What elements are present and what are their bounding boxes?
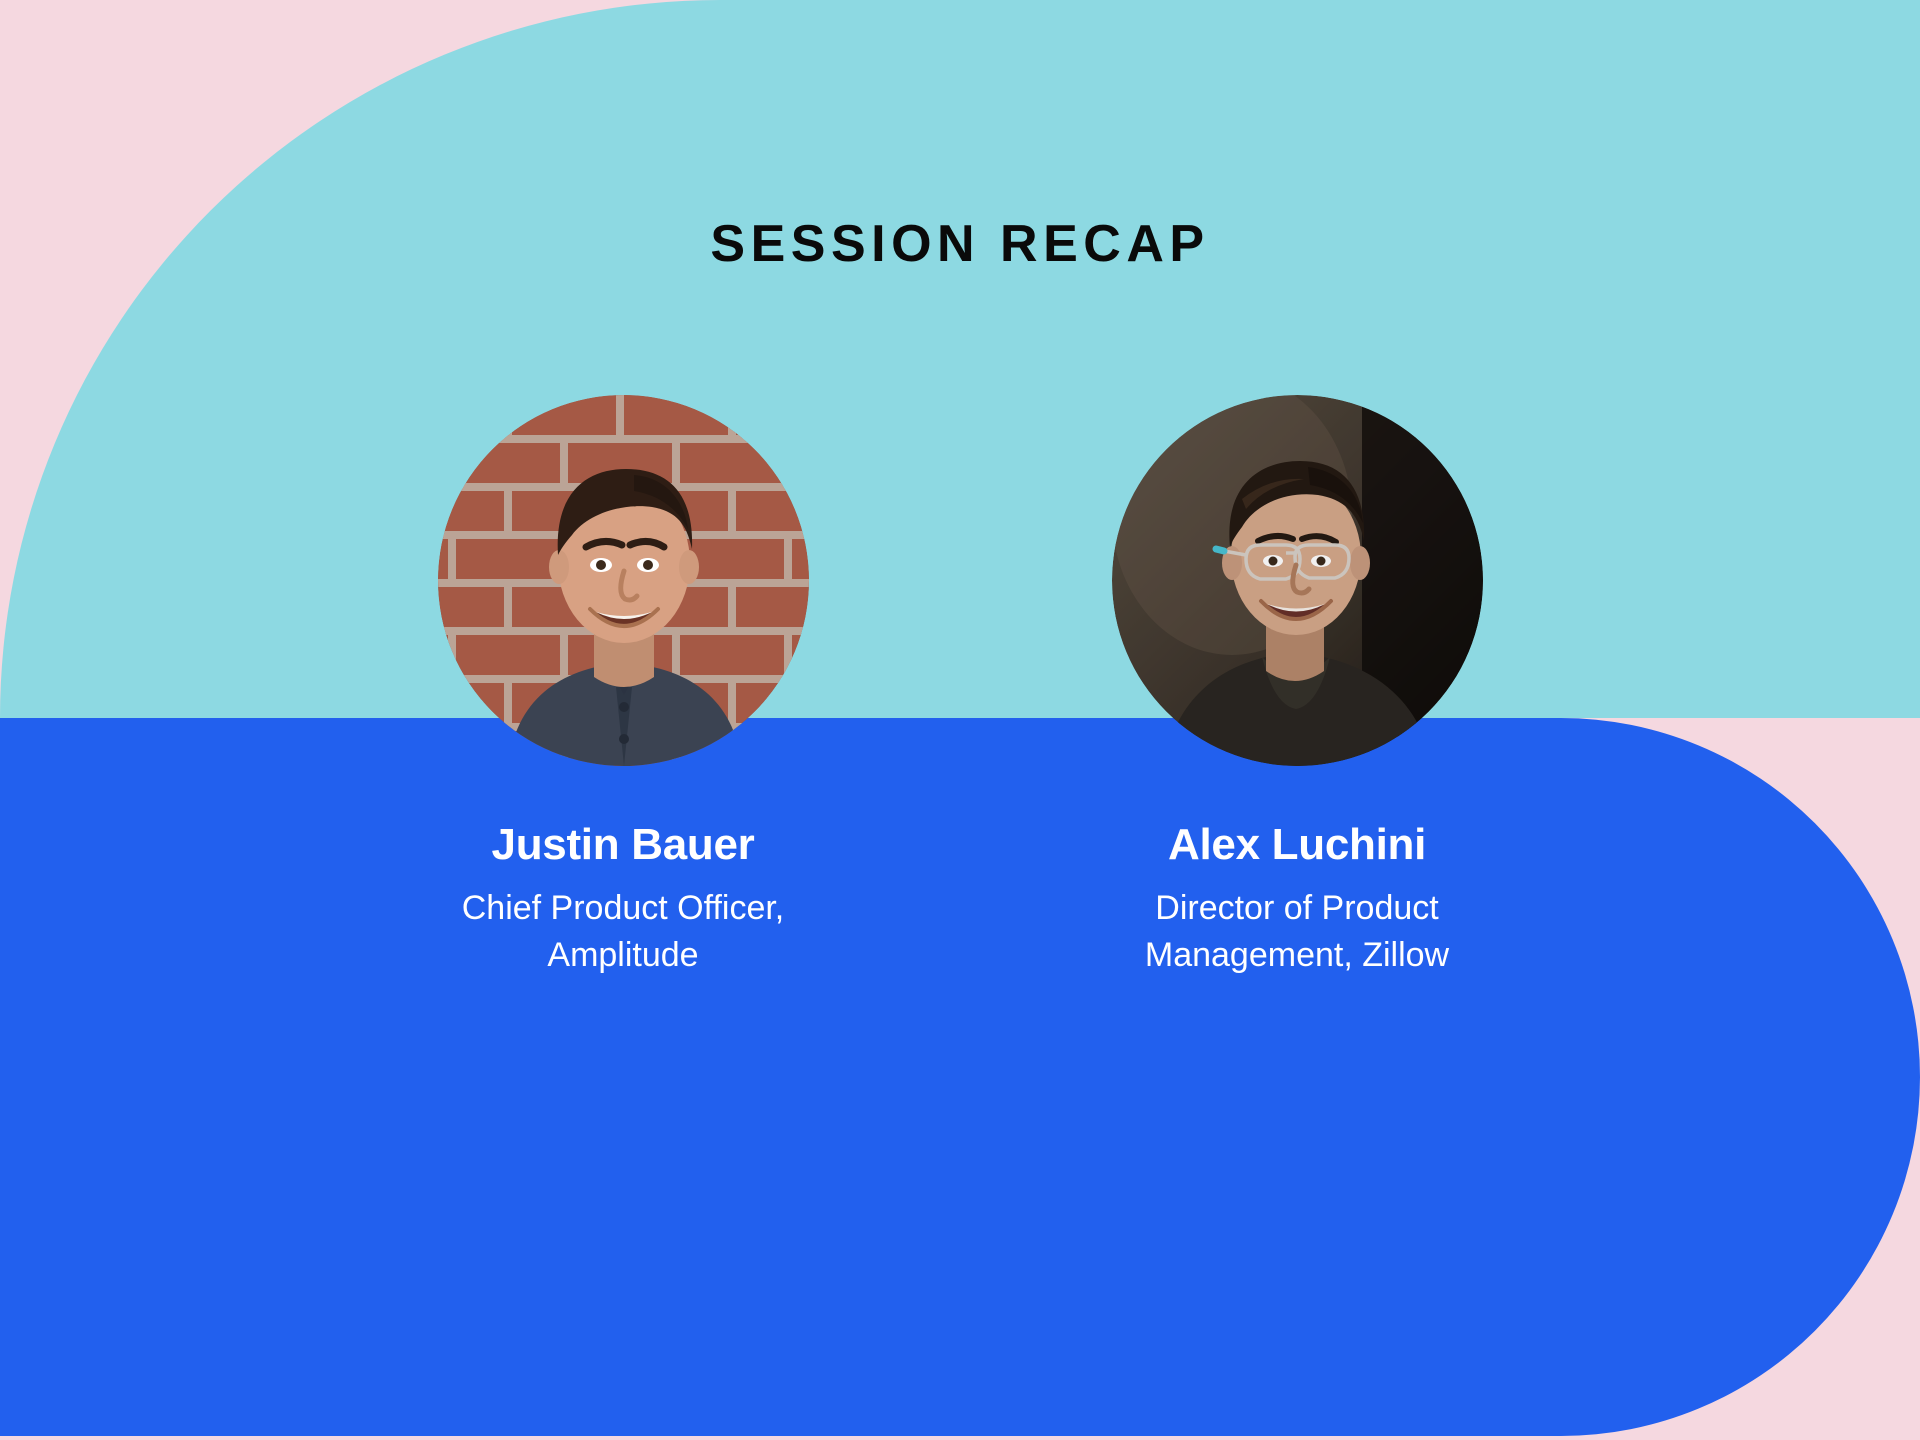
session-recap-slide: SESSION RECAP [0, 0, 1920, 1440]
speaker-name: Justin Bauer [492, 820, 755, 871]
speaker-card-justin-bauer: Justin Bauer Chief Product Officer, Ampl… [393, 395, 853, 978]
page-title: SESSION RECAP [0, 216, 1920, 273]
portrait-alex-luchini-image [1112, 395, 1483, 766]
avatar [1112, 395, 1483, 766]
avatar [438, 395, 809, 766]
speaker-card-alex-luchini: Alex Luchini Director of Product Managem… [1067, 395, 1527, 978]
speaker-name: Alex Luchini [1168, 820, 1426, 871]
portrait-justin-bauer-image [438, 395, 809, 766]
speaker-list: Justin Bauer Chief Product Officer, Ampl… [0, 395, 1920, 978]
speaker-role: Chief Product Officer, Amplitude [408, 885, 838, 979]
speaker-role: Director of Product Management, Zillow [1082, 885, 1512, 979]
